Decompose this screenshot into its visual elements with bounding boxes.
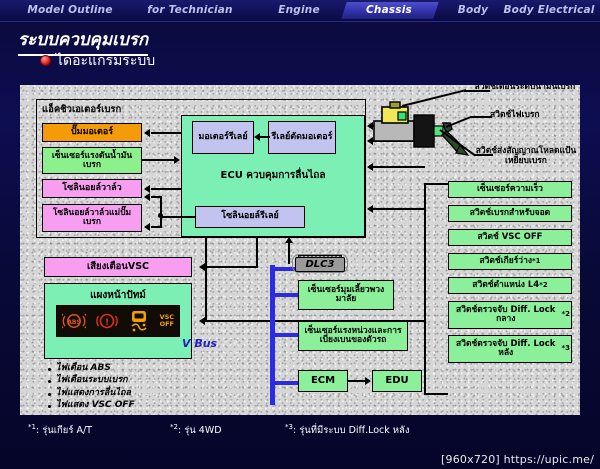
callout-brake-pedal-load-signal-switch: สวิตช์ส่งสัญญาณโหลดแป้นเหยียบเบรก [472, 147, 580, 167]
tab-chassis[interactable]: Chassis [348, 1, 430, 20]
list-item: ไฟเตือนระบบเบรก [46, 375, 246, 386]
line-relay-branch-h [160, 216, 196, 218]
right-signal-bus [424, 183, 426, 395]
warning-lamp-list: ไฟเตือน ABS ไฟเตือนระบบเบรก ไฟแสดงการลื่… [46, 363, 246, 412]
arrow-to-motor-relay [254, 133, 260, 141]
abs-warning-icon: ABS [62, 310, 86, 332]
skid-control-icon [128, 309, 150, 333]
line-ecu-to-solenoid-valve [151, 188, 181, 190]
list-item-label: ไฟเตือน ABS [56, 363, 111, 374]
footnote-2-mark: *2 [170, 423, 178, 431]
footnote-1-text: : รุ่นเกียร์ A/T [36, 425, 92, 436]
system-diagram: แอ็คชิวเอเตอร์เบรก ECU ควบคุมการลื่นไถล … [20, 85, 580, 415]
sensor-label-l4: สวิตช์ตำแหน่ง L4 [472, 281, 539, 290]
list-bullet [48, 405, 51, 408]
pump-motor-box[interactable]: ปั๊มมอเตอร์ [42, 123, 142, 142]
arrow-ecm-to-edu [365, 377, 371, 385]
brake-actuator-label: แอ็คชิวเอเตอร์เบรก [42, 102, 121, 117]
tab-body-electrical[interactable]: Body Electrical [502, 1, 596, 20]
line-dlc3-to-ecu-v [288, 242, 290, 264]
line-cutrelay-to-motorrelay [260, 136, 270, 138]
line-to-vsc-buzzer [206, 266, 258, 268]
slide-root: Model Outline for Technician Engine Chas… [0, 0, 600, 469]
line-pressure-sensor-to-ecu [142, 159, 174, 161]
footnote-1: *1: รุ่นเกียร์ A/T [28, 423, 92, 438]
list-item-label: ไฟเตือนระบบเบรก [56, 375, 128, 386]
sensor-note-rear-diff: *3 [561, 345, 570, 352]
solenoid-valve-box[interactable]: โซลินอยล์วาล์ว [42, 179, 142, 198]
line-into-ecu-right-2 [373, 208, 425, 210]
list-bullet [48, 380, 51, 383]
yaw-rate-deceleration-sensor-box[interactable]: เซ็นเซอร์แรงหน่วงและการเบี่ยงเบนของตัวรถ [298, 321, 408, 351]
section-subtitle: ไดอะแกรมระบบ [56, 50, 155, 72]
dlc3-connector[interactable]: DLC3 [292, 253, 348, 273]
ecm-box[interactable]: ECM [298, 370, 348, 392]
line-ecm-to-edu [348, 380, 366, 382]
footnote-3-mark: *3 [285, 423, 293, 431]
sensor-label-center-diff: สวิตช์ตรวจจับ Diff. Lock กลาง [450, 306, 561, 324]
brake-warning-icon: ! [96, 310, 118, 332]
instrument-panel-screen: ABS ! VSCOFF [56, 305, 180, 337]
arrow-to-ecu-pressure [174, 156, 180, 164]
footnote-3-text: : รุ่นที่มีระบบ Diff.Lock หลัง [293, 425, 410, 436]
arrow-to-solenoid-valve [144, 185, 150, 193]
dlc3-label: DLC3 [295, 257, 345, 272]
list-item: ไฟเตือน ABS [46, 363, 246, 374]
list-item: ไฟแสดง VSC OFF [46, 400, 246, 411]
top-tab-bar: Model Outline for Technician Engine Chas… [0, 0, 600, 22]
callout-stop-lamp-switch: สวิตช์ไฟเบรก [490, 111, 580, 121]
arrow-dlc3-to-ecu [285, 237, 293, 243]
sensor-box-l4-position-switch[interactable]: สวิตช์ตำแหน่ง L4 *2 [448, 277, 572, 294]
motor-relay-box[interactable]: มอเตอร์รีเลย์ [192, 121, 254, 154]
list-bullet [48, 368, 51, 371]
list-item: ไฟแสดงการลื่นไถล [46, 388, 246, 399]
sensor-label-rear-diff: สวิตช์ตรวจจับ Diff. Lock หลัง [450, 340, 561, 358]
tab-model-outline[interactable]: Model Outline [18, 1, 122, 20]
callout-line-2-h [470, 116, 492, 118]
brake-fluid-pressure-sensor-box[interactable]: เซ็นเซอร์แรงดันน้ำมันเบรก [42, 147, 142, 174]
sensor-box-center-diff-lock[interactable]: สวิตช์ตรวจจับ Diff. Lock กลาง *2 [448, 301, 572, 329]
list-item-label: ไฟแสดง VSC OFF [56, 400, 135, 411]
footnotes: *1: รุ่นเกียร์ A/T *2: รุ่น 4WD *3: รุ่น… [0, 421, 600, 445]
vbus-branch-ecm [270, 381, 298, 385]
instrument-panel-title: แผงหน้าปัทม์ [44, 288, 192, 303]
vbus-branch-yaw [270, 333, 298, 337]
sensor-note-center-diff: *2 [561, 311, 570, 318]
arrow-to-pump-motor [144, 129, 150, 137]
tab-engine[interactable]: Engine [268, 1, 330, 20]
sensor-note-l4: *2 [539, 282, 548, 289]
right-bus-bottom-cap [424, 393, 448, 395]
master-cylinder-illustration [372, 93, 482, 163]
line-into-ecu-right-1 [373, 166, 425, 168]
vbus-branch-steering [270, 293, 298, 297]
junction-dot [158, 213, 163, 218]
tab-for-technician[interactable]: for Technician [138, 1, 242, 20]
bullet-icon [40, 55, 51, 66]
line-ecu-down-left [205, 238, 207, 322]
callout-brake-fluid-level-warning: สวิตช์เตือนระดับน้ำมันเบรก [472, 85, 578, 93]
svg-text:ABS: ABS [67, 319, 81, 326]
sensor-box-rear-diff-lock[interactable]: สวิตช์ตรวจจับ Diff. Lock หลัง *3 [448, 335, 572, 363]
vbus-label: V Bus [182, 337, 217, 350]
sensor-box-parking-brake-switch[interactable]: สวิตช์เบรกสำหรับจอด [448, 205, 572, 222]
master-cylinder-solenoid-valve-box[interactable]: โซลินอยล์วาล์วแม่ปั๊มเบรก [42, 204, 142, 232]
line-ecu-to-pump [151, 132, 181, 134]
edu-box[interactable]: EDU [372, 370, 422, 392]
footnote-1-mark: *1 [28, 423, 36, 431]
ecu-label: ECU ควบคุมการลื่นไถล [181, 168, 365, 183]
motor-cut-relay-box[interactable]: รีเลย์ตัดมอเตอร์ [268, 121, 336, 154]
arrow-relay-to-valve-upper [144, 193, 150, 201]
arrow-relay-to-valve-lower [144, 223, 150, 231]
line-relay-branch-up [151, 196, 161, 198]
steering-angle-sensor-box[interactable]: เซ็นเซอร์มุมเลี้ยวพวงมาลัย [298, 280, 394, 310]
solenoid-relay-box[interactable]: โซลินอยล์รีเลย์ [195, 206, 305, 228]
line-ecu-down-right [256, 238, 258, 240]
sensor-box-vehicle-speed[interactable]: เซ็นเซอร์ความเร็ว [448, 181, 572, 198]
vsc-off-icon: VSCOFF [160, 314, 174, 328]
svg-text:!: ! [105, 318, 109, 328]
list-bullet [48, 393, 51, 396]
sensor-label-neutral: สวิตช์เกียร์ว่าง [479, 257, 532, 266]
list-item-label: ไฟแสดงการลื่นไถล [56, 388, 131, 399]
line-to-vsc-buzzer-v [256, 238, 258, 268]
tab-body[interactable]: Body [448, 1, 498, 20]
footnote-2: *2: รุ่น 4WD [170, 423, 222, 438]
footnote-2-text: : รุ่น 4WD [178, 425, 222, 436]
sensor-note-neutral: *1 [532, 258, 541, 265]
watermark: [960x720] https://upic.me/ [441, 453, 594, 466]
vsc-buzzer-box[interactable]: เสียงเตือนVSC [44, 257, 192, 277]
sensor-box-neutral-switch[interactable]: สวิตช์เกียร์ว่าง *1 [448, 253, 572, 270]
sensor-box-vsc-off-switch[interactable]: สวิตช์ VSC OFF [448, 229, 572, 246]
right-bus-top-cap [424, 183, 448, 185]
footnote-3: *3: รุ่นที่มีระบบ Diff.Lock หลัง [285, 423, 410, 438]
